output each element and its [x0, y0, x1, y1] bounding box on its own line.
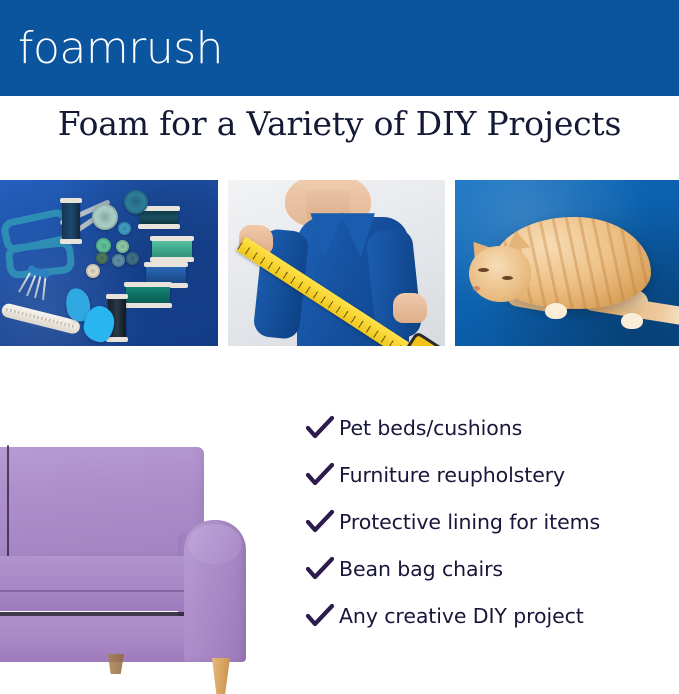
- check-icon: [305, 415, 339, 441]
- page-title: Foam for a Variety of DIY Projects: [0, 104, 679, 143]
- tape-measure-photo: [228, 180, 446, 346]
- cat-on-cushion-photo: [455, 180, 679, 346]
- thread-spool-darkteal: [140, 208, 178, 227]
- list-item: Pet beds/cushions: [305, 408, 679, 448]
- sofa-back-cushion-right: [0, 447, 204, 565]
- list-item: Protective lining for items: [305, 502, 679, 542]
- feature-list: Pet beds/cushions Furniture reupholstery…: [305, 408, 679, 643]
- cat-paw-front: [545, 303, 567, 319]
- photo-strip: [0, 180, 679, 346]
- sofa-base-skirt: [0, 616, 206, 662]
- sofa-leg-front: [208, 658, 230, 694]
- check-icon: [305, 556, 339, 582]
- list-item-label: Pet beds/cushions: [339, 416, 522, 440]
- sofa-seat-cushion: [0, 556, 206, 611]
- list-item: Bean bag chairs: [305, 549, 679, 589]
- cat-paw-hind: [621, 313, 643, 329]
- list-item-label: Protective lining for items: [339, 510, 600, 534]
- button-large-mint: [92, 204, 118, 230]
- button-large-teal: [124, 190, 148, 214]
- check-icon: [305, 462, 339, 488]
- check-icon: [305, 603, 339, 629]
- button-small-seafoam: [116, 240, 129, 253]
- button-small-slate: [126, 252, 139, 265]
- button-small-olive: [96, 252, 108, 264]
- sofa-back-seam: [7, 445, 9, 563]
- sofa-seat-welt-line: [0, 590, 204, 592]
- list-item-label: Bean bag chairs: [339, 557, 503, 581]
- button-small-steel: [112, 254, 125, 267]
- list-item-label: Any creative DIY project: [339, 604, 584, 628]
- check-icon: [305, 509, 339, 535]
- sofa-leg-back: [106, 654, 124, 674]
- thread-spool-mint: [152, 238, 192, 260]
- list-item: Any creative DIY project: [305, 596, 679, 636]
- cat-eye-left: [478, 268, 489, 272]
- cat-head: [469, 246, 531, 302]
- list-item-label: Furniture reupholstery: [339, 463, 565, 487]
- button-small-green: [96, 238, 111, 253]
- person-hand-right: [393, 293, 427, 323]
- lavender-sofa-illustration: [0, 440, 270, 679]
- sewing-supplies-photo: [0, 180, 218, 346]
- thread-spool-navy: [62, 200, 80, 242]
- button-cream: [86, 264, 100, 278]
- list-item: Furniture reupholstery: [305, 455, 679, 495]
- sofa-arm-roll-highlight: [188, 524, 242, 564]
- header-banner: foamrush: [0, 0, 679, 96]
- brand-logo[interactable]: foamrush: [18, 27, 223, 71]
- thread-spool-teal: [126, 284, 170, 306]
- button-small-blue: [118, 222, 131, 235]
